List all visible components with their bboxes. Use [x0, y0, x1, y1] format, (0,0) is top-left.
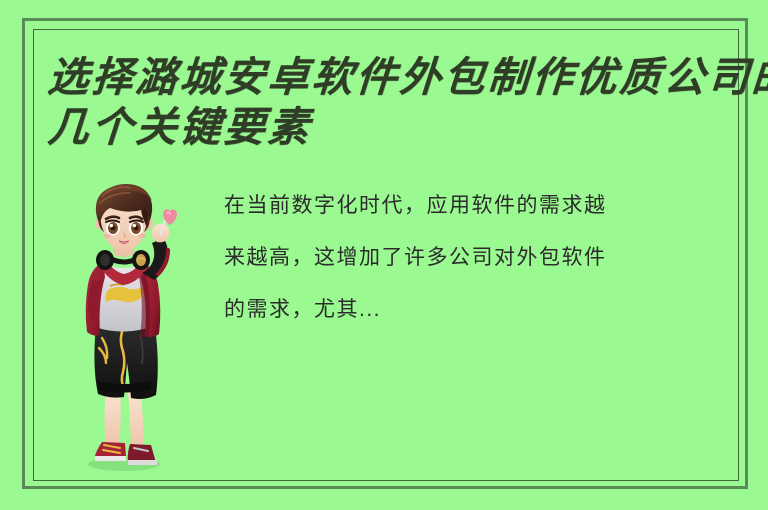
page-title: 选择潞城安卓软件外包制作优质公司的 几个关键要素 [46, 52, 736, 152]
excerpt-line-3: 的需求，尤其... [224, 284, 724, 336]
character-illustration [62, 176, 186, 476]
excerpt-line-2: 来越高，这增加了许多公司对外包软件 [224, 232, 724, 284]
poster-canvas: 选择潞城安卓软件外包制作优质公司的 几个关键要素 在当前数字化时代，应用软件的需… [0, 0, 768, 510]
title-line-1: 选择潞城安卓软件外包制作优质公司的 [46, 52, 739, 102]
article-excerpt: 在当前数字化时代，应用软件的需求越 来越高，这增加了许多公司对外包软件 的需求，… [224, 180, 724, 336]
title-line-2: 几个关键要素 [46, 102, 739, 152]
excerpt-line-1: 在当前数字化时代，应用软件的需求越 [224, 180, 724, 232]
chibi-boy-icon [62, 176, 186, 476]
